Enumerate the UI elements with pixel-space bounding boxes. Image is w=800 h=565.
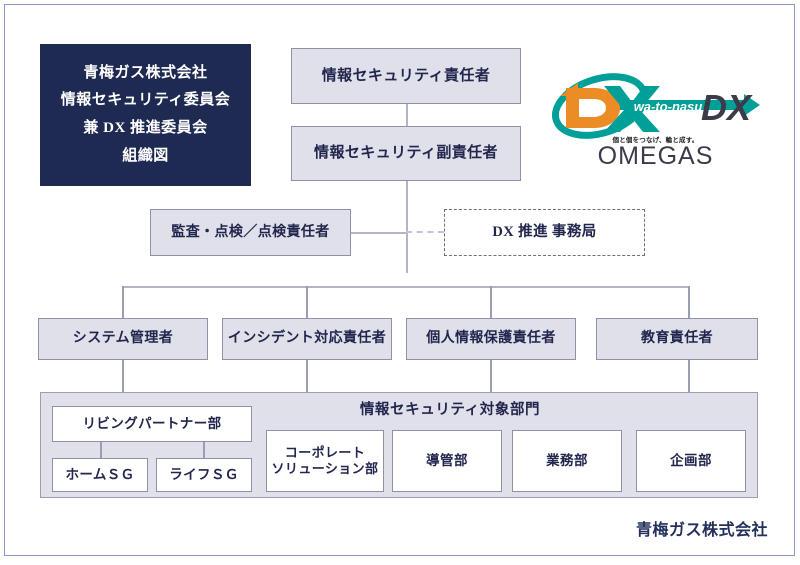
connector-deputy-down [406, 181, 408, 273]
chart-title-line-2: 情報セキュリティ委員会 [61, 87, 231, 115]
connector-role-drop-2 [306, 286, 308, 318]
connector-audit-to-center [351, 232, 407, 234]
node-system-admin[interactable]: システム管理者 [38, 318, 208, 360]
footer-company-logo: 青梅ガス株式会社 [636, 516, 768, 540]
node-living-partner[interactable]: リビングパートナー部 [52, 406, 252, 442]
connector-panel-drop-4 [688, 360, 690, 392]
node-dx-office[interactable]: DX 推進 事務局 [444, 209, 645, 256]
dx-logo-mark: wa-to-nasu DX [548, 72, 763, 142]
node-operations-dept[interactable]: 業務部 [512, 430, 622, 492]
connector-living-partner-to-life-sg [203, 442, 205, 458]
chart-title-block: 青梅ガス株式会社 情報セキュリティ委員会 兼 DX 推進委員会 組織図 [40, 44, 251, 186]
connector-center-to-dx-office [406, 231, 444, 233]
node-security-manager[interactable]: 情報セキュリティ責任者 [291, 48, 521, 104]
node-education[interactable]: 教育責任者 [596, 318, 758, 360]
omegas-dx-logo: wa-to-nasu DX 個と個をつなげ、輪と成す。 OMEGAS [548, 72, 763, 182]
org-chart-page: 青梅ガス株式会社 情報セキュリティ委員会 兼 DX 推進委員会 組織図 wa-t… [0, 0, 800, 565]
node-privacy-protection[interactable]: 個人情報保護責任者 [406, 318, 576, 360]
chart-title-line-1: 青梅ガス株式会社 [83, 60, 207, 88]
node-deputy-security-manager[interactable]: 情報セキュリティ副責任者 [291, 126, 521, 181]
node-home-sg[interactable]: ホームＳＧ [52, 458, 148, 492]
node-pipeline-dept[interactable]: 導管部 [392, 430, 502, 492]
connector-manager-to-deputy [406, 104, 408, 126]
node-planning-dept[interactable]: 企画部 [636, 430, 746, 492]
chart-title-line-3: 兼 DX 推進委員会 [83, 115, 207, 143]
wa-to-nasu-label: wa-to-nasu [634, 99, 703, 114]
chart-title-line-4: 組織図 [122, 143, 169, 171]
connector-panel-drop-3 [490, 360, 492, 392]
connector-panel-drop-2 [306, 360, 308, 392]
corporate-solution-line-2: ソリューション部 [272, 461, 379, 477]
connector-panel-drop-1 [122, 360, 124, 392]
connector-role-bar [123, 286, 690, 288]
connector-role-drop-4 [688, 286, 690, 318]
node-incident-response[interactable]: インシデント対応責任者 [222, 318, 392, 360]
connector-living-partner-to-home-sg [100, 442, 102, 458]
connector-role-drop-3 [490, 286, 492, 318]
node-corporate-solution[interactable]: コーポレート ソリューション部 [266, 430, 384, 492]
corporate-solution-line-1: コーポレート [285, 445, 365, 461]
dx-wordmark: DX [701, 87, 753, 128]
connector-role-drop-1 [122, 286, 124, 318]
node-life-sg[interactable]: ライフＳＧ [156, 458, 252, 492]
node-audit-inspection[interactable]: 監査・点検／点検責任者 [150, 209, 351, 256]
omegas-wordmark: OMEGAS [548, 142, 763, 171]
